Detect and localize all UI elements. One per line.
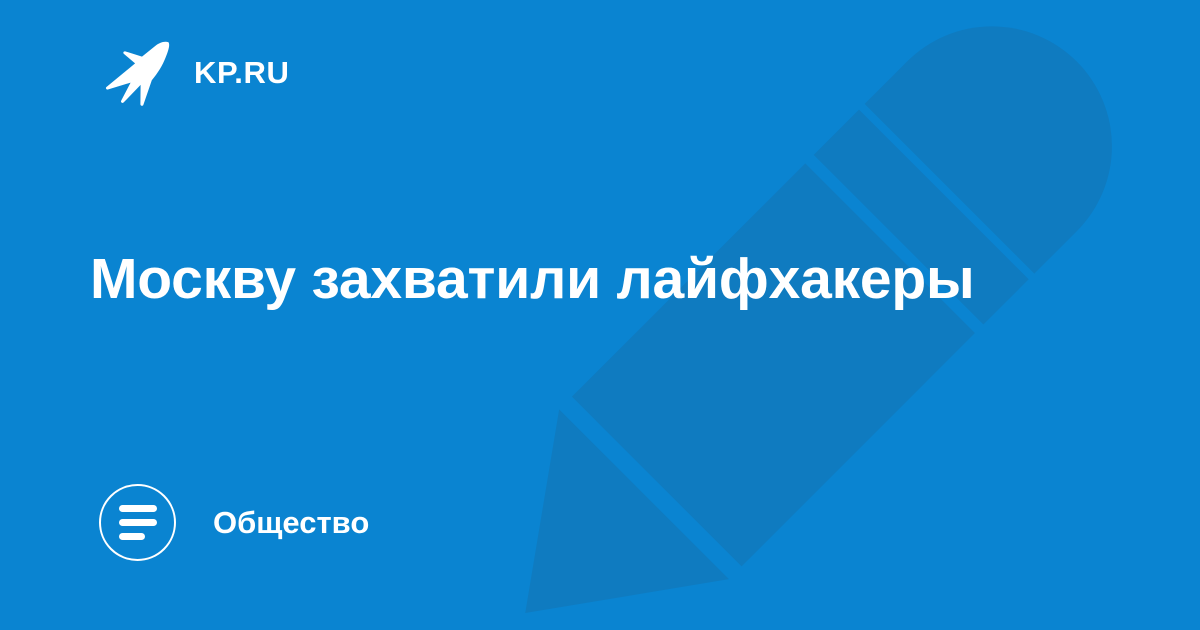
article-headline: Москву захватили лайфхакеры — [90, 248, 1100, 312]
hamburger-line-1 — [119, 505, 157, 512]
rubric-label: Общество — [213, 507, 369, 538]
hamburger-lines-icon — [99, 484, 176, 561]
brand-logo[interactable]: KP.RU — [104, 38, 289, 106]
swallow-bird-icon — [104, 38, 176, 106]
hamburger-line-2 — [119, 519, 157, 526]
social-share-card: KP.RU Москву захватили лайфхакеры Общест… — [0, 0, 1200, 630]
rubric[interactable]: Общество — [99, 484, 369, 561]
hamburger-line-3 — [119, 533, 145, 540]
brand-name: KP.RU — [194, 57, 289, 88]
